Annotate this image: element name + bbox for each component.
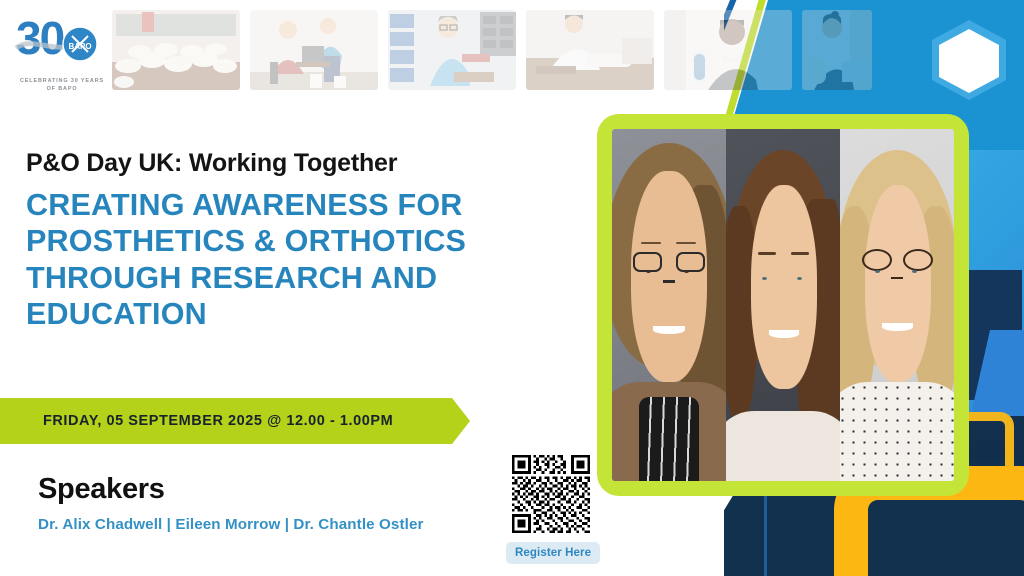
headline-line-3: THROUGH RESEARCH AND: [26, 260, 556, 297]
logo-mark: 30 BAPO: [14, 8, 110, 70]
photo-strip-item: [250, 10, 378, 90]
headline-line-4: EDUCATION: [26, 296, 556, 333]
logo-badge-text: BAPO: [68, 42, 91, 51]
photo-strip-item: [802, 10, 872, 90]
prosthetic-limbs-workshop-image: [112, 10, 240, 90]
speaker-photo: [726, 129, 840, 481]
headline-line-2: PROSTHETICS & ORTHOTICS: [26, 223, 556, 260]
register-here-button[interactable]: Register Here: [506, 542, 600, 564]
photo-strip-item: [388, 10, 516, 90]
registration-block[interactable]: Register Here: [512, 455, 600, 564]
speakers-photo-row: [612, 129, 954, 481]
speaker-photo: [840, 129, 954, 481]
speaker-photo: [612, 129, 726, 481]
photo-strip-item: [664, 10, 792, 90]
technician-at-workbench-image: [388, 10, 516, 90]
headline-kicker: P&O Day UK: Working Together: [26, 150, 556, 178]
speakers-photo-frame: [597, 114, 969, 496]
logo-caption: CELEBRATING 30 YEARS OF BAPO: [14, 77, 110, 93]
headline-block: P&O Day UK: Working Together CREATING AW…: [26, 150, 556, 333]
qr-code-icon[interactable]: [512, 455, 590, 533]
technician-casting-limb-image: [526, 10, 654, 90]
photo-strip-item: [526, 10, 654, 90]
photo-strip: [112, 10, 872, 90]
logo-caption-line-2: OF BAPO: [47, 86, 78, 92]
photo-strip-item: [112, 10, 240, 90]
svg-text:30: 30: [16, 12, 64, 64]
speakers-block: Speakers Dr. Alix Chadwell | Eileen Morr…: [38, 473, 424, 533]
bapo-30-years-logo: 30 BAPO CELEBRATING 30 YEARS OF BAPO: [14, 8, 110, 90]
headline-main: CREATING AWARENESS FOR PROSTHETICS & ORT…: [26, 187, 556, 333]
technician-working-bench-image: [802, 10, 872, 90]
speakers-names: Dr. Alix Chadwell | Eileen Morrow | Dr. …: [38, 516, 424, 533]
student-holding-prosthetic-image: [664, 10, 792, 90]
poster-canvas: 30 BAPO CELEBRATING 30 YEARS OF BAPO: [0, 0, 1024, 576]
clinician-fitting-patient-image: [250, 10, 378, 90]
speakers-heading: Speakers: [38, 473, 424, 506]
headline-line-1: CREATING AWARENESS FOR: [26, 187, 556, 224]
logo-caption-line-1: CELEBRATING 30 YEARS: [20, 78, 104, 84]
date-banner: FRIDAY, 05 SEPTEMBER 2025 @ 12.00 - 1.00…: [0, 398, 470, 444]
date-banner-text: FRIDAY, 05 SEPTEMBER 2025 @ 12.00 - 1.00…: [43, 413, 393, 429]
